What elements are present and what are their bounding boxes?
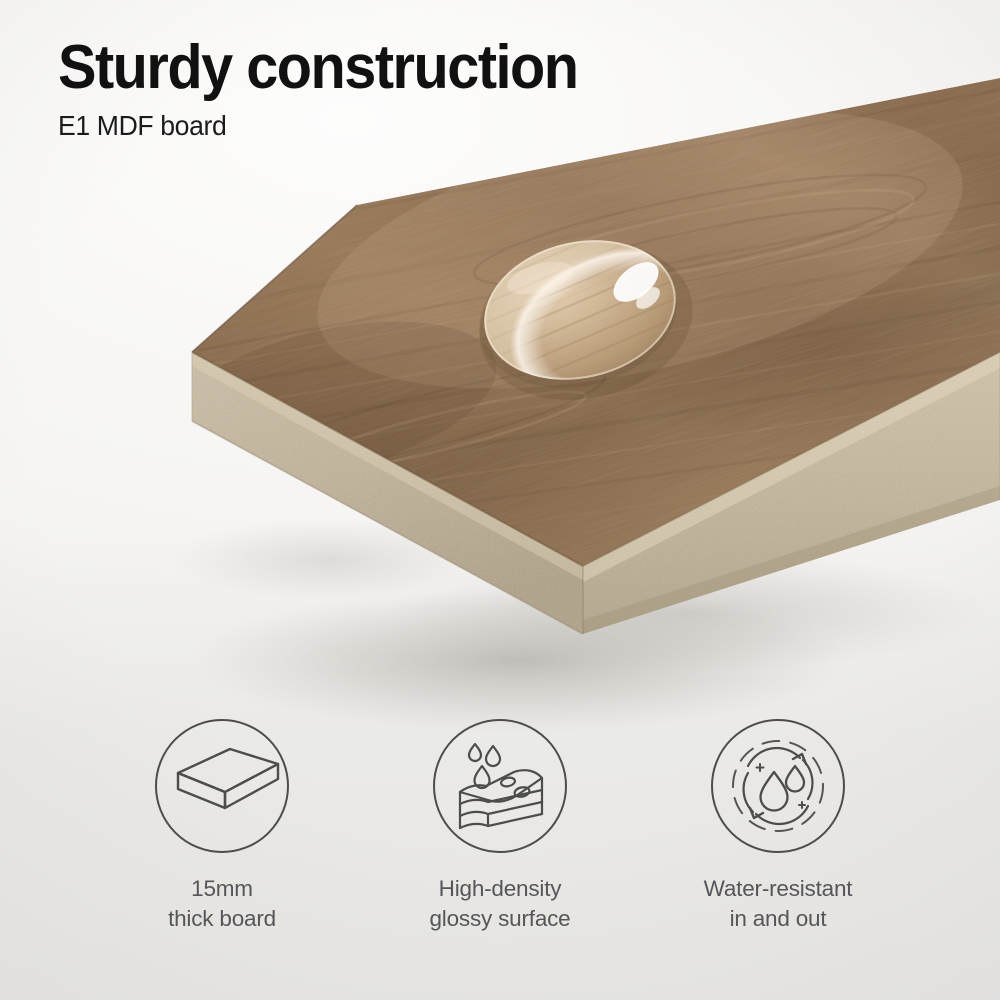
feature-caption-line1: 15mm: [191, 876, 253, 901]
feature-caption-line2: glossy surface: [429, 904, 570, 934]
layered-sheets-water-droplets-icon: [430, 716, 570, 856]
feature-caption-water-resistant: Water-resistant in and out: [704, 874, 853, 934]
page-title: Sturdy construction: [58, 36, 578, 99]
water-droplets-cycle-icon: [708, 716, 848, 856]
feature-caption-thickness: 15mm thick board: [168, 874, 276, 934]
feature-caption-line1: Water-resistant: [704, 876, 853, 901]
feature-caption-line1: High-density: [439, 876, 562, 901]
feature-caption-glossy: High-density glossy surface: [429, 874, 570, 934]
headline-block: Sturdy construction E1 MDF board: [58, 36, 617, 142]
feature-list: 15mm thick board: [0, 716, 1000, 934]
page-subtitle: E1 MDF board: [58, 110, 589, 142]
product-feature-banner: Sturdy construction E1 MDF board 15mm th…: [0, 0, 1000, 1000]
feature-item-water-resistant: Water-resistant in and out: [683, 716, 873, 934]
feature-item-thickness: 15mm thick board: [127, 716, 317, 934]
feature-caption-line2: in and out: [704, 904, 853, 934]
feature-caption-line2: thick board: [168, 904, 276, 934]
board-thickness-icon: [152, 716, 292, 856]
feature-item-glossy: High-density glossy surface: [405, 716, 595, 934]
